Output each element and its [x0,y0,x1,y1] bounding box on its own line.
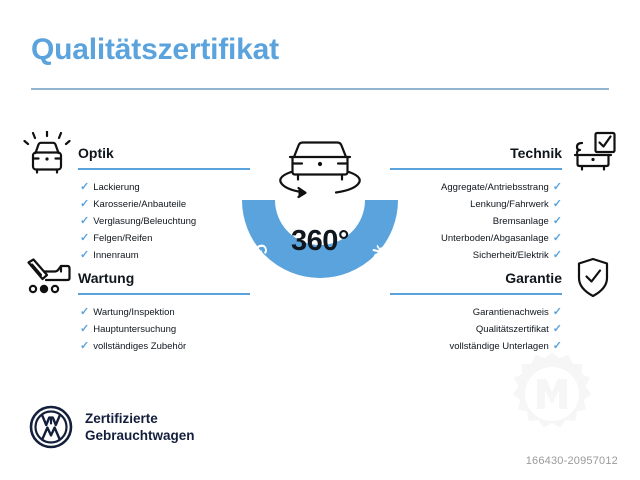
list-item-label: Unterboden/Abgasanlage [441,233,549,244]
list-item-label: vollständiges Zubehör [93,341,186,352]
car-shine-icon [22,131,72,175]
section-list-technik: Aggregate/Antriebsstrang✓ Lenkung/Fahrwe… [441,179,562,264]
list-item: ✓Lackierung [80,179,196,196]
list-item: ✓Felgen/Reifen [80,230,196,247]
list-item-label: Innenraum [93,250,138,261]
list-item: Aggregate/Antriebsstrang✓ [441,179,562,196]
list-item-label: Wartung/Inspektion [93,307,175,318]
list-item: ✓Wartung/Inspektion [80,304,186,321]
list-item-label: Sicherheit/Elektrik [473,250,549,261]
list-item-label: Qualitätszertifikat [476,324,549,335]
list-item: ✓Innenraum [80,247,196,264]
check-icon: ✓ [80,323,89,335]
list-item: ✓vollständiges Zubehör [80,338,186,355]
check-icon: ✓ [80,198,89,210]
list-item: Garantienachweis✓ [449,304,562,321]
badge-degrees: 360° [234,225,406,258]
badge-360-check: Gebrauchtwagen-Check 360° [234,124,406,310]
reference-id: 166430-20957012 [526,455,618,467]
vw-footer-line2: Gebrauchtwagen [85,427,195,444]
title-divider [31,88,609,90]
list-item: Bremsanlage✓ [441,213,562,230]
vw-footer-text: Zertifizierte Gebrauchtwagen [85,410,195,444]
list-item-label: Lackierung [93,182,139,193]
list-item: ✓Karosserie/Anbauteile [80,196,196,213]
gear-m-watermark [506,348,598,440]
wrench-car-icon [22,256,72,300]
vw-logo [29,405,73,449]
list-item-label: Aggregate/Antriebsstrang [441,182,549,193]
shield-check-icon [568,256,618,300]
section-list-optik: ✓Lackierung ✓Karosserie/Anbauteile ✓Verg… [80,179,196,264]
list-item: ✓Verglasung/Beleuchtung [80,213,196,230]
list-item-label: Hauptuntersuchung [93,324,176,335]
list-item-label: Bremsanlage [493,216,549,227]
list-item-label: Garantienachweis [473,307,549,318]
list-item: ✓Hauptuntersuchung [80,321,186,338]
check-icon: ✓ [553,198,562,210]
section-divider-wartung [78,293,250,295]
check-icon: ✓ [80,249,89,261]
check-icon: ✓ [80,340,89,352]
check-icon: ✓ [80,215,89,227]
section-list-wartung: ✓Wartung/Inspektion ✓Hauptuntersuchung ✓… [80,304,186,355]
check-icon: ✓ [80,232,89,244]
list-item: Sicherheit/Elektrik✓ [441,247,562,264]
check-icon: ✓ [553,232,562,244]
list-item: Unterboden/Abgasanlage✓ [441,230,562,247]
list-item-label: Lenkung/Fahrwerk [470,199,549,210]
check-icon: ✓ [553,306,562,318]
section-heading-optik: Optik [78,145,114,161]
car-rotate-icon [280,143,359,198]
section-divider-optik [78,168,250,170]
check-icon: ✓ [553,323,562,335]
list-item: Qualitätszertifikat✓ [449,321,562,338]
section-heading-wartung: Wartung [78,270,134,286]
section-heading-technik: Technik [510,145,562,161]
check-icon: ✓ [80,181,89,193]
section-divider-technik [390,168,562,170]
check-icon: ✓ [553,249,562,261]
section-heading-garantie: Garantie [505,270,562,286]
list-item-label: Felgen/Reifen [93,233,152,244]
car-checkbox-icon [568,131,618,175]
page-title: Qualitätszertifikat [31,33,279,67]
list-item-label: Karosserie/Anbauteile [93,199,186,210]
section-divider-garantie [390,293,562,295]
vw-footer-line1: Zertifizierte [85,410,195,427]
check-icon: ✓ [553,181,562,193]
list-item-label: Verglasung/Beleuchtung [93,216,196,227]
check-icon: ✓ [80,306,89,318]
vw-footer-logo-block: Zertifizierte Gebrauchtwagen [29,405,195,449]
list-item: Lenkung/Fahrwerk✓ [441,196,562,213]
check-icon: ✓ [553,215,562,227]
